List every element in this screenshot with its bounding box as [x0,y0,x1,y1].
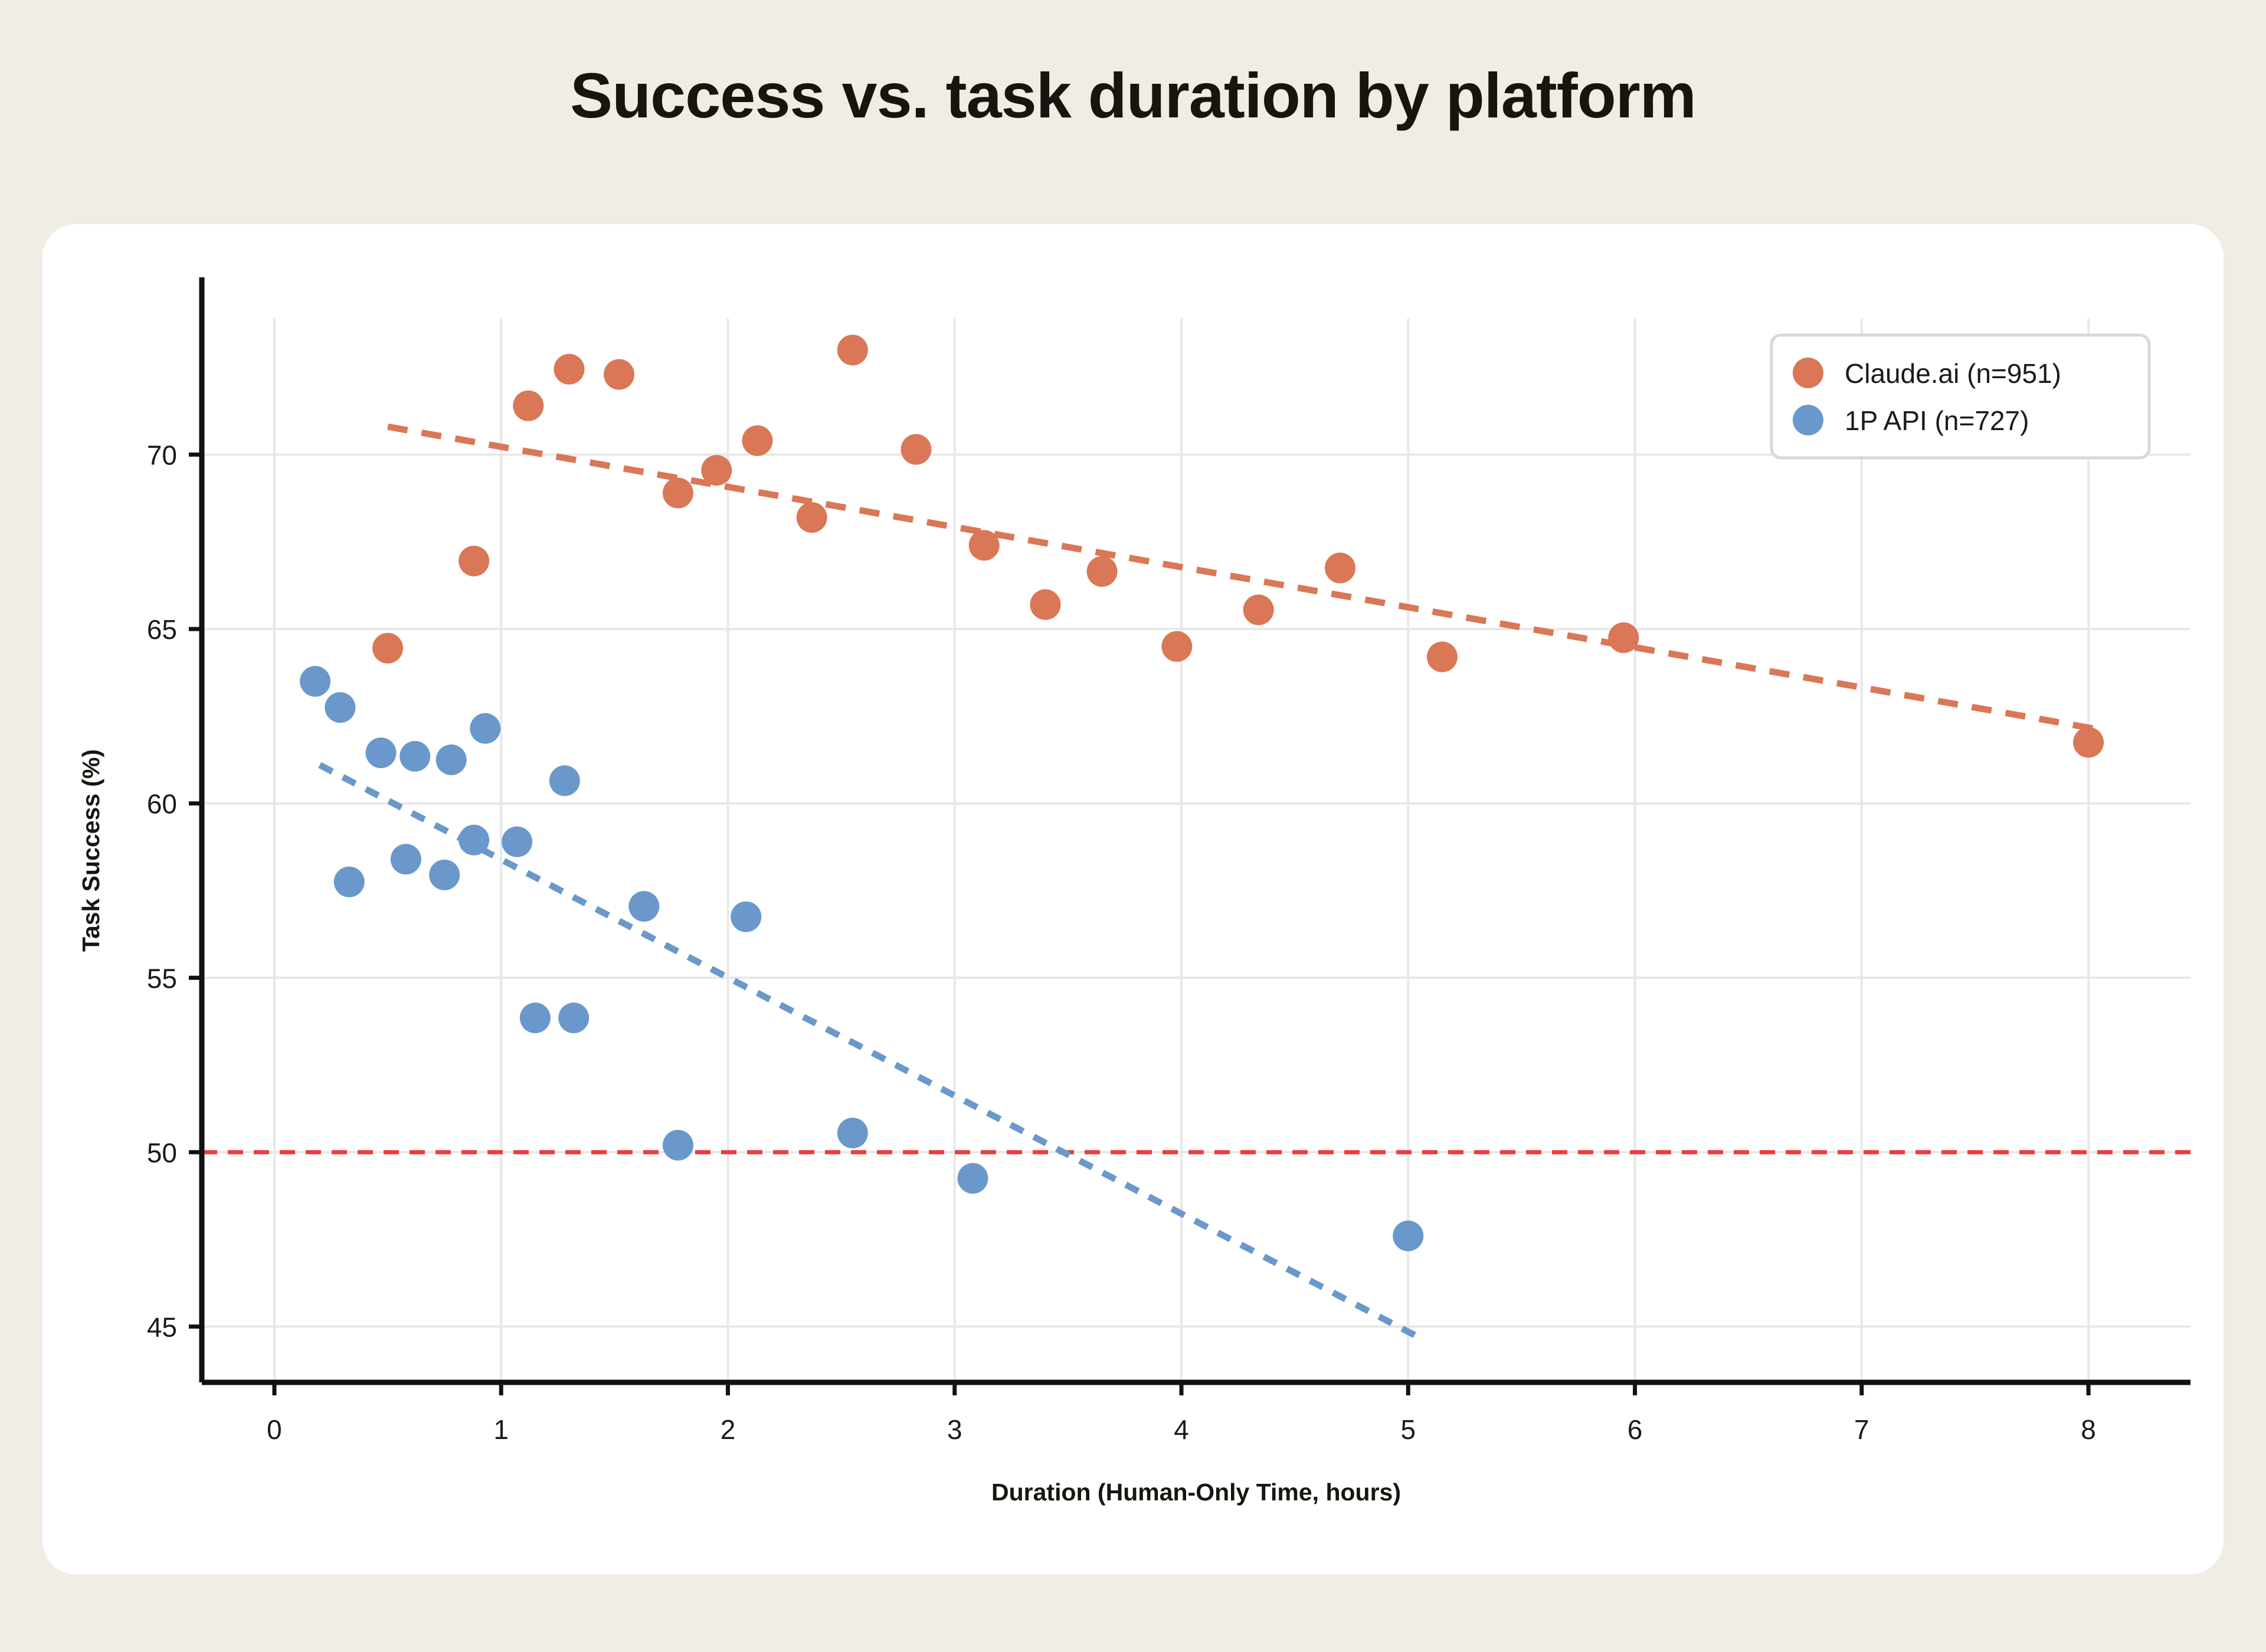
data-point[interactable] [2073,727,2104,758]
legend-label: Claude.ai (n=951) [1845,358,2061,389]
data-point[interactable] [391,844,421,874]
data-point[interactable] [1608,622,1639,653]
x-tick-label: 8 [2081,1414,2096,1445]
data-point[interactable] [797,502,827,533]
trendline-claude-ai [388,427,2093,728]
data-point[interactable] [663,478,693,509]
legend-swatch [1793,358,1823,388]
legend-label: 1P API (n=727) [1845,405,2029,436]
legend-swatch [1793,405,1823,435]
y-tick-label: 65 [147,614,177,645]
x-tick-label: 5 [1400,1414,1416,1445]
data-point[interactable] [554,354,585,385]
data-point[interactable] [400,741,430,772]
data-point[interactable] [334,867,365,897]
data-point[interactable] [459,546,489,576]
x-tick-label: 3 [947,1414,962,1445]
data-point[interactable] [837,335,868,365]
x-tick-label: 7 [1854,1414,1869,1445]
data-point[interactable] [1243,595,1274,625]
data-point[interactable] [900,434,931,465]
data-point[interactable] [731,902,761,932]
data-point[interactable] [366,737,397,768]
x-tick-label: 0 [267,1414,282,1445]
data-point[interactable] [1427,641,1458,672]
data-point[interactable] [513,391,543,421]
data-point[interactable] [1393,1221,1423,1251]
data-point[interactable] [1087,556,1118,587]
x-tick-label: 2 [721,1414,736,1445]
data-point[interactable] [436,745,467,775]
data-point[interactable] [300,666,330,697]
y-tick-label: 60 [147,789,177,820]
data-point[interactable] [742,425,772,456]
x-axis-title: Duration (Human-Only Time, hours) [991,1479,1401,1506]
plot-svg: 012345678455055606570Duration (Human-Onl… [42,224,2224,1574]
data-point[interactable] [969,530,1000,560]
data-point[interactable] [957,1163,988,1194]
data-point[interactable] [470,713,500,744]
x-tick-label: 6 [1628,1414,1643,1445]
y-tick-label: 70 [147,440,177,471]
y-tick-label: 50 [147,1138,177,1168]
y-tick-label: 45 [147,1312,177,1342]
data-point[interactable] [520,1002,551,1033]
data-point[interactable] [502,827,532,857]
data-point[interactable] [1161,631,1192,662]
x-tick-label: 1 [493,1414,509,1445]
y-tick-label: 55 [147,963,177,994]
page-title: Success vs. task duration by platform [0,0,2266,127]
data-point[interactable] [325,692,355,723]
data-point[interactable] [628,891,659,922]
data-point[interactable] [429,860,460,890]
data-point[interactable] [549,765,580,796]
data-point[interactable] [837,1117,868,1148]
data-point[interactable] [372,633,403,664]
data-point[interactable] [1325,553,1355,584]
scatter-plot: 012345678455055606570Duration (Human-Onl… [42,224,2224,1574]
data-point[interactable] [459,825,489,855]
x-tick-label: 4 [1174,1414,1189,1445]
y-axis-title: Task Success (%) [77,749,104,952]
chart-card: 012345678455055606570Duration (Human-Onl… [42,224,2224,1574]
data-point[interactable] [1030,589,1060,620]
data-point[interactable] [558,1002,589,1033]
data-point[interactable] [663,1130,693,1161]
legend-box [1771,335,2149,458]
data-point[interactable] [701,455,732,486]
data-point[interactable] [604,359,634,390]
